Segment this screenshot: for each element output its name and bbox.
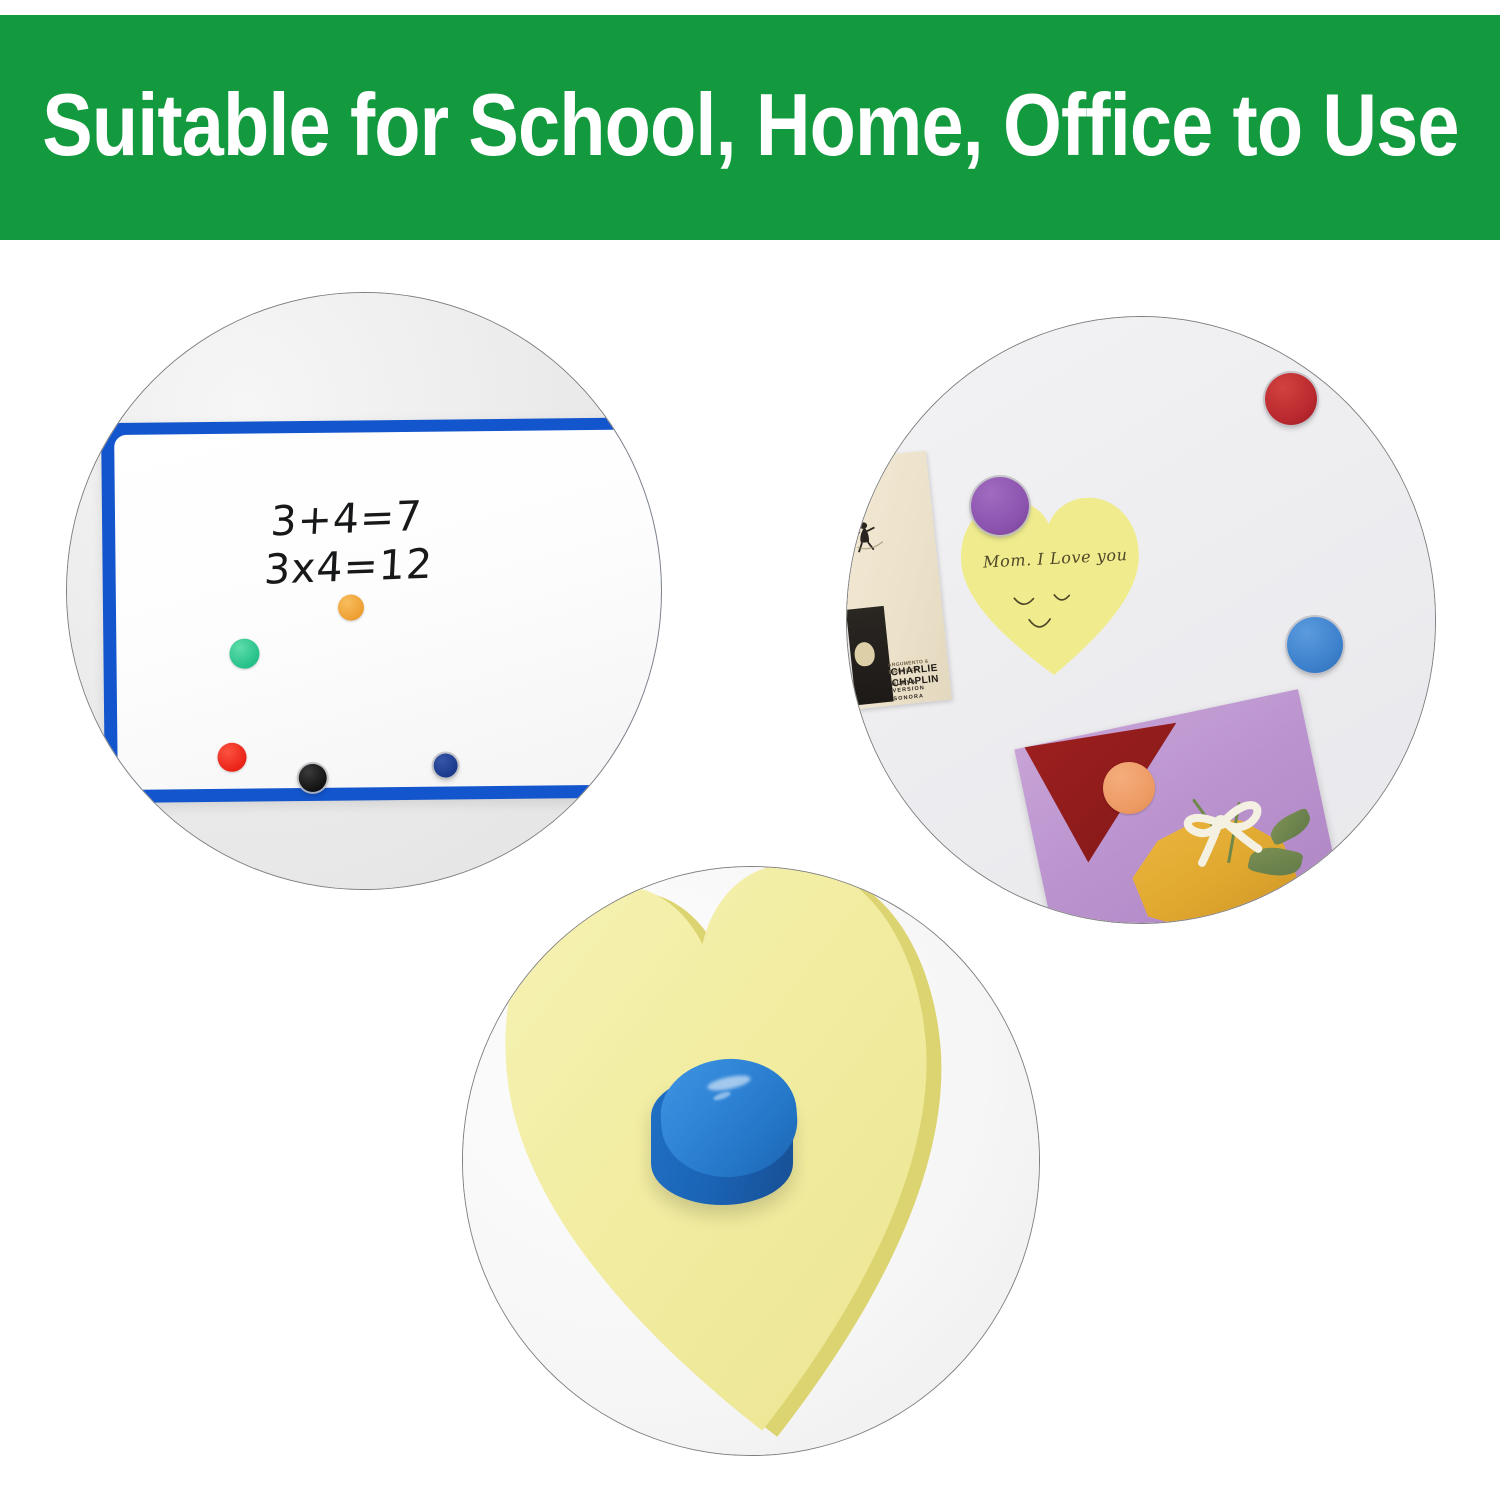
orange-magnet: [338, 594, 364, 620]
equation-line-1: 3+4=7: [269, 491, 436, 546]
smiley-face-drawing: [1010, 589, 1098, 638]
poster-top-line-2: ON!: [846, 478, 859, 494]
black-magnet: [299, 764, 327, 792]
poster-figure-icon: [849, 517, 894, 555]
green-magnet: [229, 638, 259, 668]
photo-whiteboard-with-magnets: 3+4=7 3x4=12: [66, 292, 662, 890]
poster-top-text: DI ON!: [846, 464, 859, 494]
headline-banner: Suitable for School, Home, Office to Use: [0, 15, 1500, 240]
purple-magnet: [971, 477, 1029, 535]
red-magnet: [217, 743, 246, 772]
closeup-blue-magnet: [651, 1059, 797, 1209]
headline-text: Suitable for School, Home, Office to Use: [42, 81, 1458, 175]
navy-magnet: [434, 753, 458, 777]
equation-line-2: 3x4=12: [263, 540, 434, 595]
red-magnet: [1265, 373, 1317, 425]
photo-magnet-closeup: [462, 866, 1040, 1456]
blue-magnet: [1287, 617, 1343, 673]
photo-board-with-notes: DI ON! ARGUMENTO & DIRECCION CHARLIE CHA…: [846, 316, 1436, 924]
whiteboard-blue-frame: 3+4=7 3x4=12: [101, 417, 662, 803]
whiteboard-equations: 3+4=7 3x4=12: [267, 491, 437, 594]
orange-magnet: [1103, 762, 1155, 814]
poster-subtitle-text: NUEVA VERSION SONORA: [892, 675, 952, 703]
whiteboard-writing-surface: 3+4=7 3x4=12: [114, 429, 662, 790]
